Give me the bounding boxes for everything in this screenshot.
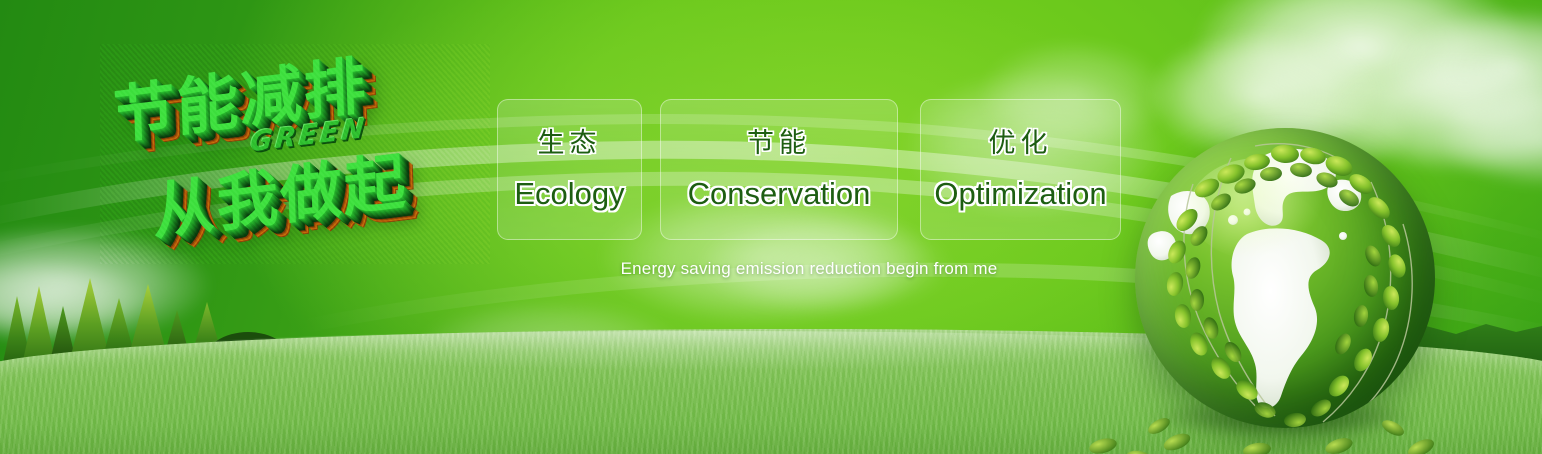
feature-card-conservation[interactable]: 节能 Conservation [660,99,898,240]
feature-card-conservation-cn: 节能 [747,130,811,157]
feature-card-optimization-en: Optimization [934,178,1106,209]
feature-card-ecology-cn: 生态 [538,130,602,157]
leafy-earth-globe [1135,128,1435,428]
feature-card-optimization-cn: 优化 [989,130,1053,157]
banner-subtitle: Energy saving emission reduction begin f… [497,259,1121,279]
scattered-leaves [1073,342,1493,454]
feature-card-conservation-en: Conservation [688,178,871,209]
feature-card-ecology-en: Ecology [514,178,624,209]
feature-card-ecology[interactable]: 生态 Ecology [497,99,642,240]
feature-card-optimization[interactable]: 优化 Optimization [920,99,1121,240]
feature-cards: 生态 Ecology 节能 Conservation 优化 Optimizati… [497,99,1121,240]
eco-banner: 节能减排 从我做起 GREEN 生态 Ecology 节能 Conservati… [0,0,1542,454]
